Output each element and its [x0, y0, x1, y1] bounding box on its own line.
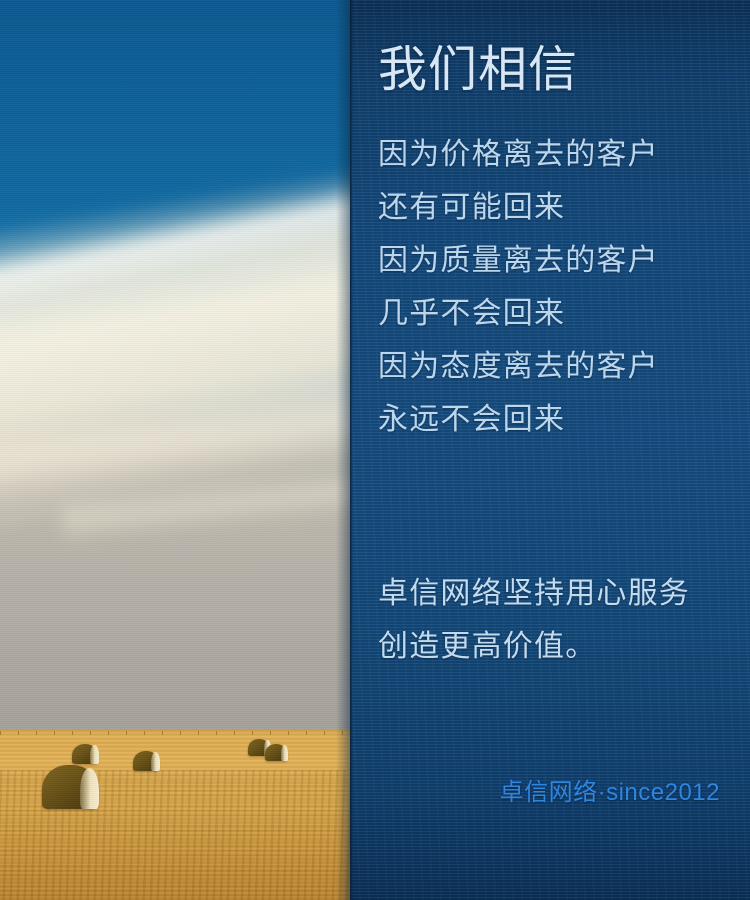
signature-since: ·since2012: [598, 779, 720, 806]
bale-far-right-front: [265, 744, 287, 761]
creed-line-3: 因为质量离去的客户: [378, 234, 738, 287]
creed-line-2: 还有可能回来: [378, 181, 738, 234]
text-panel: 我们相信 因为价格离去的客户 还有可能回来 因为质量离去的客户 几乎不会回来 因…: [350, 0, 750, 900]
fence-line: [0, 731, 350, 735]
signature-brand: 卓信网络: [500, 779, 598, 806]
closing-block: 卓信网络坚持用心服务 创造更高价值。: [378, 567, 738, 673]
creed-line-5: 因为态度离去的客户: [378, 340, 738, 393]
brand-signature: 卓信网络·since2012: [500, 772, 720, 807]
wheat-field: [0, 730, 350, 900]
horizon-haze: [0, 560, 350, 742]
creed-line-4: 几乎不会回来: [378, 287, 738, 340]
bale-foreground-large: [42, 765, 98, 809]
panel-content: 我们相信 因为价格离去的客户 还有可能回来 因为质量离去的客户 几乎不会回来 因…: [350, 0, 750, 900]
closing-line-2: 创造更高价值。: [378, 620, 738, 673]
closing-line-1: 卓信网络坚持用心服务: [378, 567, 738, 620]
bale-mid-left: [72, 744, 98, 764]
bale-mid-center: [133, 751, 159, 771]
creed-block: 因为价格离去的客户 还有可能回来 因为质量离去的客户 几乎不会回来 因为态度离去…: [378, 128, 738, 446]
page-title: 我们相信: [378, 44, 578, 97]
creed-line-1: 因为价格离去的客户: [378, 128, 738, 181]
creed-line-6: 永远不会回来: [378, 393, 738, 446]
prairie-photo: [0, 0, 350, 900]
poster-root: 我们相信 因为价格离去的客户 还有可能回来 因为质量离去的客户 几乎不会回来 因…: [0, 0, 750, 900]
